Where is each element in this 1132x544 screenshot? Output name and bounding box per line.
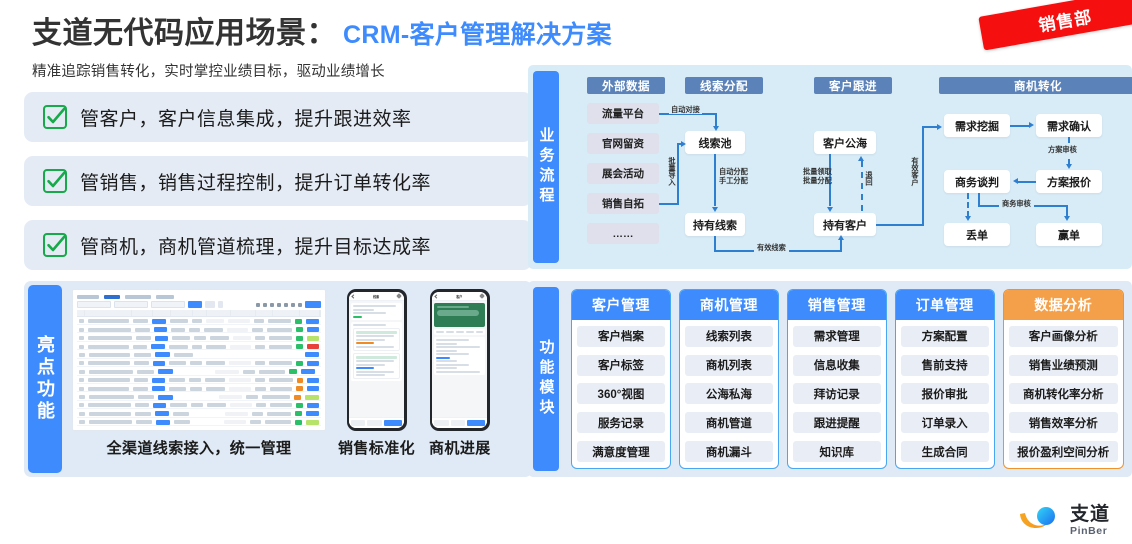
screenshot-tab-strip xyxy=(77,294,321,299)
business-flow-panel: 业务流程 外部数据 线索分配 客户跟进 商机转化 流量平台 官网留资 展会活动 … xyxy=(528,65,1132,269)
highlight-desktop-column: 全渠道线索接入，统一管理 xyxy=(72,289,326,473)
share-icon xyxy=(396,293,402,299)
flow-edge-dashed xyxy=(861,161,863,211)
module-item[interactable]: 报价审批 xyxy=(901,383,989,404)
flow-edge xyxy=(714,154,716,206)
flow-arrow-down-icon xyxy=(827,207,833,212)
feature-item: 管商机，商机管道梳理，提升目标达成率 xyxy=(24,220,532,270)
check-square-icon xyxy=(42,168,68,194)
flow-edge-label: 批量领取 批量分配 xyxy=(803,167,832,185)
screenshot-toolbar xyxy=(77,301,321,308)
flow-edge-label: 商务审核 xyxy=(999,199,1034,208)
highlight-caption: 商机进展 xyxy=(429,437,491,458)
module-item[interactable]: 销售效率分析 xyxy=(1009,412,1118,433)
flow-arrow-right-icon xyxy=(937,124,942,130)
flow-edge-label: 退回 xyxy=(865,171,874,185)
flow-arrow-down-icon xyxy=(1066,164,1072,169)
flow-edge-label: 有效客户 xyxy=(911,157,920,186)
module-item[interactable]: 商机转化率分析 xyxy=(1009,383,1118,404)
module-item[interactable]: 商机列表 xyxy=(685,355,773,376)
feature-item-label: 管客户，客户信息集成，提升跟进效率 xyxy=(80,104,412,131)
module-item[interactable]: 满意度管理 xyxy=(577,441,665,462)
feature-item-label: 管销售，销售过程控制，提升订单转化率 xyxy=(80,168,431,195)
page-subtitle: 精准追踪销售转化，实时掌控业绩目标，驱动业绩增长 xyxy=(32,60,385,81)
flow-edge-dashed xyxy=(967,193,969,217)
module-column-customer-management: 客户管理 客户档案 客户标签 360°视图 服务记录 满意度管理 xyxy=(571,289,671,469)
flow-edge xyxy=(922,126,924,226)
flow-arrow-right-icon xyxy=(1029,122,1034,128)
flow-arrow-down-icon xyxy=(713,126,719,131)
flow-stage-header-opportunity-conversion: 商机转化 xyxy=(939,77,1132,94)
flow-edge xyxy=(659,203,679,205)
flow-node-biz-negotiation: 商务谈判 xyxy=(944,170,1010,193)
module-item[interactable]: 知识库 xyxy=(793,441,881,462)
crm-table-screenshot xyxy=(72,289,326,431)
module-item[interactable]: 商机管道 xyxy=(685,412,773,433)
flow-arrow-right-icon xyxy=(681,141,686,147)
module-column-title: 订单管理 xyxy=(896,290,994,320)
flow-edge-label: 有效线索 xyxy=(754,243,789,252)
highlight-caption: 全渠道线索接入，统一管理 xyxy=(107,437,292,458)
flow-arrow-down-icon xyxy=(712,207,718,212)
business-flow-diagram: 外部数据 线索分配 客户跟进 商机转化 流量平台 官网留资 展会活动 销售自拓 … xyxy=(571,71,1124,263)
flow-node-lead-pool: 线索池 xyxy=(685,131,745,154)
flow-arrow-down-icon xyxy=(1064,216,1070,221)
flow-node-demand-dig: 需求挖掘 xyxy=(944,114,1010,137)
department-ribbon-label: 销售部 xyxy=(1036,2,1094,36)
flow-source-node: 官网留资 xyxy=(587,133,659,154)
module-column-title: 销售管理 xyxy=(788,290,886,320)
module-item[interactable]: 售前支持 xyxy=(901,355,989,376)
module-item[interactable]: 360°视图 xyxy=(577,383,665,404)
page-title-accent: CRM-客户管理解决方案 xyxy=(343,15,612,51)
feature-item-label: 管商机，商机管道梳理，提升目标达成率 xyxy=(80,232,431,259)
flow-edge xyxy=(922,126,938,128)
module-item[interactable]: 拜访记录 xyxy=(793,383,881,404)
pinber-logo-icon xyxy=(1019,505,1063,535)
share-icon xyxy=(479,293,485,299)
flow-arrow-up-icon xyxy=(838,235,844,240)
brand-logo: 支道 PinBer xyxy=(1019,505,1110,537)
module-item[interactable]: 跟进提醒 xyxy=(793,412,881,433)
flow-node-held-lead: 持有线索 xyxy=(685,213,745,236)
feature-item: 管客户，客户信息集成，提升跟进效率 xyxy=(24,92,532,142)
function-modules-side-label: 功能模块 xyxy=(533,287,559,471)
flow-edge xyxy=(677,143,679,205)
page-title-main: 支道无代码应用场景： xyxy=(32,8,337,52)
flow-edge xyxy=(840,239,842,252)
module-item[interactable]: 商机漏斗 xyxy=(685,441,773,462)
module-item[interactable]: 销售业绩预测 xyxy=(1009,355,1118,376)
module-column-opportunity-management: 商机管理 线索列表 商机列表 公海私海 商机管道 商机漏斗 xyxy=(679,289,779,469)
function-modules-columns: 客户管理 客户档案 客户标签 360°视图 服务记录 满意度管理 商机管理 线索… xyxy=(559,281,1132,477)
brand-name-en: PinBer xyxy=(1070,526,1110,537)
flow-node-lost-order: 丢单 xyxy=(944,223,1010,246)
flow-edge-label: 自动分配 手工分配 xyxy=(719,167,748,185)
flow-source-node: 销售自拓 xyxy=(587,193,659,214)
flow-stage-header-lead-assign: 线索分配 xyxy=(685,77,763,94)
flow-source-node: 流量平台 xyxy=(587,103,659,124)
back-chevron-icon xyxy=(351,294,355,298)
module-item[interactable]: 需求管理 xyxy=(793,326,881,347)
function-modules-panel: 功能模块 客户管理 客户档案 客户标签 360°视图 服务记录 满意度管理 商机… xyxy=(528,281,1132,477)
flow-arrow-left-icon xyxy=(1013,178,1018,184)
module-column-title: 客户管理 xyxy=(572,290,670,320)
business-flow-side-label: 业务流程 xyxy=(533,71,559,263)
module-item[interactable]: 公海私海 xyxy=(685,383,773,404)
feature-item: 管销售，销售过程控制，提升订单转化率 xyxy=(24,156,532,206)
flow-edge-label: 批量导入 xyxy=(668,157,677,186)
phone-mockup-opportunity: 客户 xyxy=(430,289,490,431)
flow-arrow-down-icon xyxy=(965,216,971,221)
customer-hero-card xyxy=(434,303,485,327)
check-square-icon xyxy=(42,232,68,258)
flow-edge-label: 方案审核 xyxy=(1046,145,1079,154)
check-square-icon xyxy=(42,104,68,130)
flow-node-public-pool: 客户公海 xyxy=(814,131,876,154)
flow-node-plan-quote: 方案报价 xyxy=(1036,170,1102,193)
screenshot-table-header xyxy=(77,310,321,316)
flow-arrow-up-icon xyxy=(858,156,864,161)
flow-source-node: …… xyxy=(587,223,659,244)
page-title: 支道无代码应用场景： CRM-客户管理解决方案 xyxy=(32,8,612,52)
back-chevron-icon xyxy=(435,294,439,298)
highlight-phone-column-sales: 线索 销售标准化 xyxy=(338,289,415,473)
poster-root: 支道无代码应用场景： CRM-客户管理解决方案 精准追踪销售转化，实时掌控业绩目… xyxy=(0,0,1132,544)
highlight-caption: 销售标准化 xyxy=(338,437,415,458)
module-column-order-management: 订单管理 方案配置 售前支持 报价审批 订单录入 生成合同 xyxy=(895,289,995,469)
module-item[interactable]: 订单录入 xyxy=(901,412,989,433)
flow-node-won-order: 赢单 xyxy=(1036,223,1102,246)
module-column-title: 商机管理 xyxy=(680,290,778,320)
module-item[interactable]: 客户档案 xyxy=(577,326,665,347)
module-column-sales-management: 销售管理 需求管理 信息收集 拜访记录 跟进提醒 知识库 xyxy=(787,289,887,469)
module-item[interactable]: 生成合同 xyxy=(901,441,989,462)
department-ribbon-badge: 销售部 xyxy=(978,0,1132,51)
flow-node-held-customer: 持有客户 xyxy=(814,213,876,236)
flow-stage-header-external-data: 外部数据 xyxy=(587,77,665,94)
phone-mockup-sales: 线索 xyxy=(347,289,407,431)
module-item[interactable]: 报价盈利空间分析 xyxy=(1009,441,1118,462)
module-column-data-analysis: 数据分析 客户画像分析 销售业绩预测 商机转化率分析 销售效率分析 报价盈利空间… xyxy=(1003,289,1124,469)
module-item[interactable]: 方案配置 xyxy=(901,326,989,347)
module-item[interactable]: 客户画像分析 xyxy=(1009,326,1118,347)
feature-list: 管客户，客户信息集成，提升跟进效率 管销售，销售过程控制，提升订单转化率 管商机… xyxy=(24,92,532,284)
highlights-body: 全渠道线索接入，统一管理 线索 xyxy=(62,281,532,477)
module-item[interactable]: 服务记录 xyxy=(577,412,665,433)
flow-edge-label: 自动对接 xyxy=(669,105,702,114)
flow-stage-header-customer-followup: 客户跟进 xyxy=(814,77,892,94)
highlights-panel: 亮点功能 xyxy=(24,281,532,477)
brand-name-cn: 支道 xyxy=(1070,505,1110,524)
module-item[interactable]: 客户标签 xyxy=(577,355,665,376)
module-column-title: 数据分析 xyxy=(1004,290,1123,320)
flow-edge xyxy=(876,224,924,226)
flow-source-node: 展会活动 xyxy=(587,163,659,184)
flow-edge xyxy=(1010,125,1030,127)
module-item[interactable]: 线索列表 xyxy=(685,326,773,347)
flow-edge xyxy=(1018,181,1036,183)
highlight-phone-column-opportunity: 客户 商机进展 xyxy=(429,289,491,473)
highlights-side-label: 亮点功能 xyxy=(28,285,62,473)
flow-node-demand-confirm: 需求确认 xyxy=(1036,114,1102,137)
module-item[interactable]: 信息收集 xyxy=(793,355,881,376)
